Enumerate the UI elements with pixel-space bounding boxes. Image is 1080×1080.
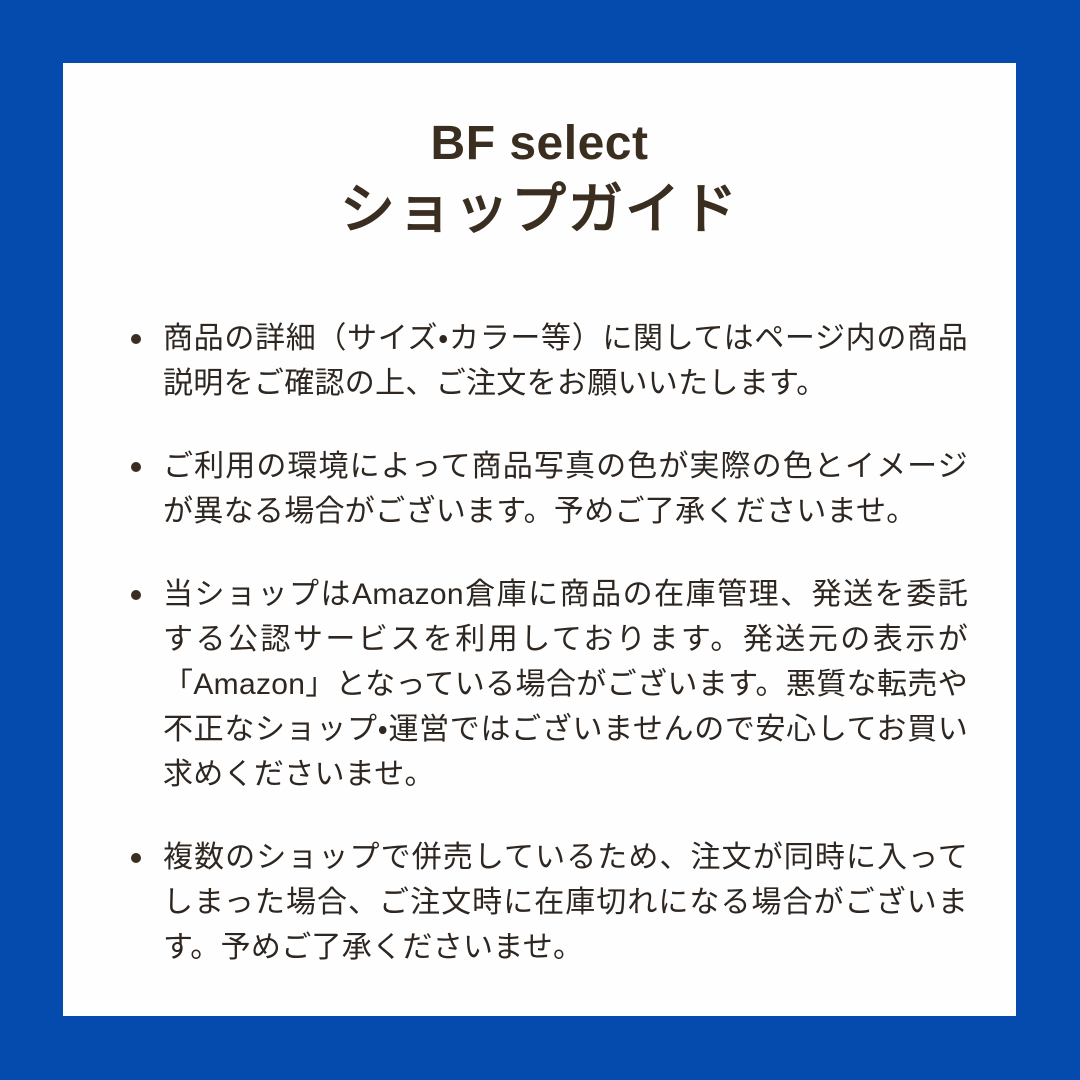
list-item-text: 商品の詳細（サイズ・カラー等）に関してはページ内の商品説明をご確認の上、ご注文を… <box>163 316 968 406</box>
guide-subtitle: ショップガイド <box>63 174 1016 244</box>
bullet-dot-icon <box>131 462 141 472</box>
blue-border-frame: BF select ショップガイド 商品の詳細（サイズ・カラー等）に関してはペー… <box>0 0 1080 1080</box>
guide-panel: BF select ショップガイド 商品の詳細（サイズ・カラー等）に関してはペー… <box>63 63 1016 1016</box>
list-item: 当ショップはAmazon倉庫に商品の在庫管理、発送を委託する公認サービスを利用し… <box>123 572 968 797</box>
list-item: 商品の詳細（サイズ・カラー等）に関してはページ内の商品説明をご確認の上、ご注文を… <box>123 316 968 406</box>
guide-bullet-list: 商品の詳細（サイズ・カラー等）に関してはページ内の商品説明をご確認の上、ご注文を… <box>123 316 968 970</box>
bullet-dot-icon <box>131 590 141 600</box>
bullet-dot-icon <box>131 334 141 344</box>
page-title: BF select ショップガイド <box>63 113 1016 245</box>
brand-title: BF select <box>63 113 1016 174</box>
list-item-text: 当ショップはAmazon倉庫に商品の在庫管理、発送を委託する公認サービスを利用し… <box>163 572 968 797</box>
list-item-text: 複数のショップで併売しているため、注文が同時に入ってしまった場合、ご注文時に在庫… <box>163 835 968 970</box>
list-item-text: ご利用の環境によって商品写真の色が実際の色とイメージが異なる場合がございます。予… <box>163 444 968 534</box>
list-item: 複数のショップで併売しているため、注文が同時に入ってしまった場合、ご注文時に在庫… <box>123 835 968 970</box>
list-item: ご利用の環境によって商品写真の色が実際の色とイメージが異なる場合がございます。予… <box>123 444 968 534</box>
bullet-dot-icon <box>131 853 141 863</box>
